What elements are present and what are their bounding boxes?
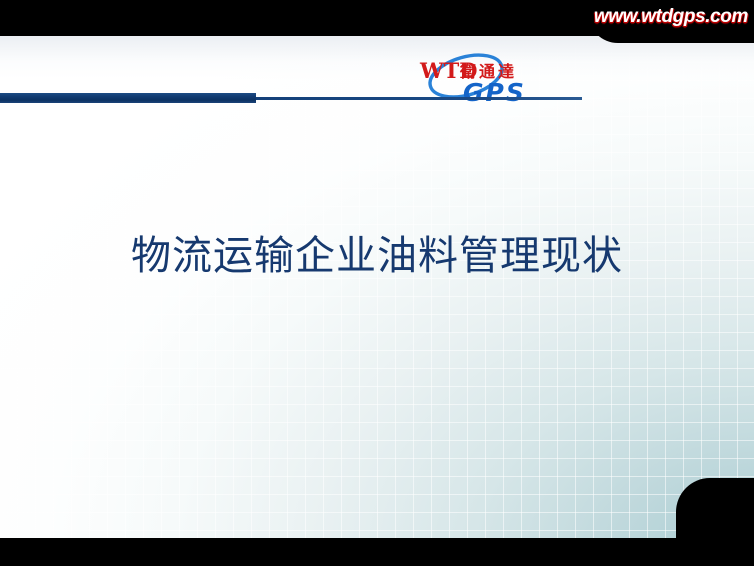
- website-url-text: www.wtdgps.com: [594, 6, 748, 28]
- slide-corner-bottom-right: [676, 478, 754, 538]
- slide-title: 物流运输企业油料管理现状: [0, 231, 754, 281]
- header-divider-thin-line: [256, 97, 582, 100]
- header-divider-thick-bar: [0, 93, 256, 103]
- website-url-container: www.wtdgps.com: [594, 4, 748, 30]
- top-banner: www.wtdgps.com: [0, 0, 754, 36]
- presentation-slide-canvas: WTD 衛通達 GPS 物流运输企业油料管理现状 www.wtdgps.com: [0, 0, 754, 566]
- logo-product-text: GPS: [463, 78, 526, 105]
- slide-surface: WTD 衛通達 GPS 物流运输企业油料管理现状: [0, 9, 754, 538]
